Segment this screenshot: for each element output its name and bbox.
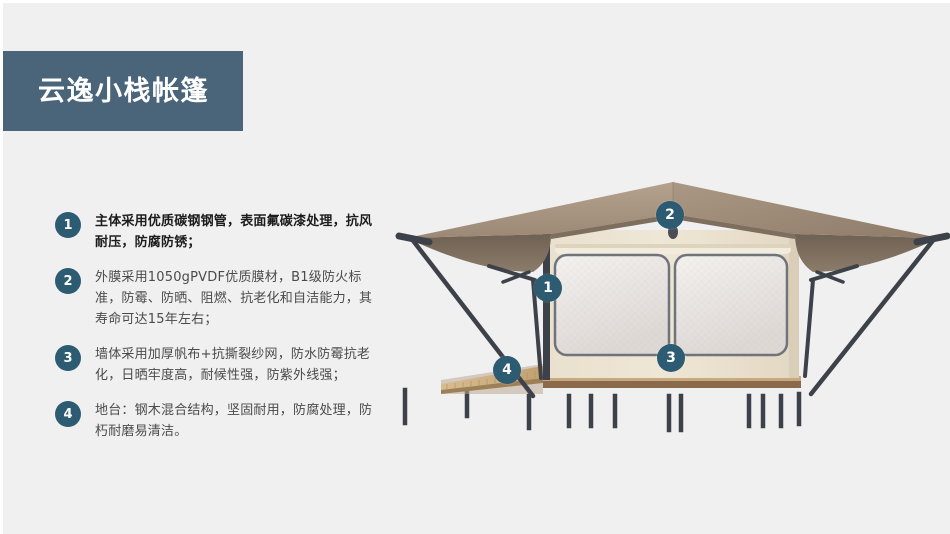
feature-text-2: 外膜采用1050gPVDF优质膜材，B1级防火标准，防霉、防晒、阻燃、抗老化和自… [95,267,375,330]
feature-item-4: 4 地台：钢木混合结构，坚固耐用，防腐处理，防朽耐磨易清洁。 [55,400,375,442]
feature-item-1: 1 主体采用优质碳钢钢管，表面氟碳漆处理，抗风耐压，防腐防锈； [55,211,375,253]
feature-text-3: 墙体采用加厚帆布+抗撕裂纱网，防水防霉抗老化，日晒牢度高，耐候性强，防紫外线强； [95,344,375,386]
tent-windows [427,255,793,355]
feature-marker-4: 4 [55,401,81,427]
page-title: 云逸小栈帐篷 [38,78,209,105]
feature-marker-3: 3 [55,345,81,371]
feature-item-3: 3 墙体采用加厚帆布+抗撕裂纱网，防水防霉抗老化，日晒牢度高，耐候性强，防紫外线… [55,344,375,386]
feature-marker-2: 2 [55,268,81,294]
image-marker-3[interactable]: 3 [657,344,685,372]
slide-canvas: 云逸小栈帐篷 1 主体采用优质碳钢钢管，表面氟碳漆处理，抗风耐压，防腐防锈； 2… [0,0,950,534]
feature-marker-1: 1 [55,212,81,238]
support-legs [405,390,799,430]
feature-text-4: 地台：钢木混合结构，坚固耐用，防腐处理，防朽耐磨易清洁。 [95,400,375,442]
image-marker-2[interactable]: 2 [656,201,684,229]
image-marker-4[interactable]: 4 [493,356,521,384]
feature-text-1: 主体采用优质碳钢钢管，表面氟碳漆处理，抗风耐压，防腐防锈； [95,211,375,253]
title-banner: 云逸小栈帐篷 [3,51,243,131]
feature-list: 1 主体采用优质碳钢钢管，表面氟碳漆处理，抗风耐压，防腐防锈； 2 外膜采用10… [55,211,375,456]
feature-item-2: 2 外膜采用1050gPVDF优质膜材，B1级防火标准，防霉、防晒、阻燃、抗老化… [55,267,375,330]
image-marker-1[interactable]: 1 [534,274,562,302]
